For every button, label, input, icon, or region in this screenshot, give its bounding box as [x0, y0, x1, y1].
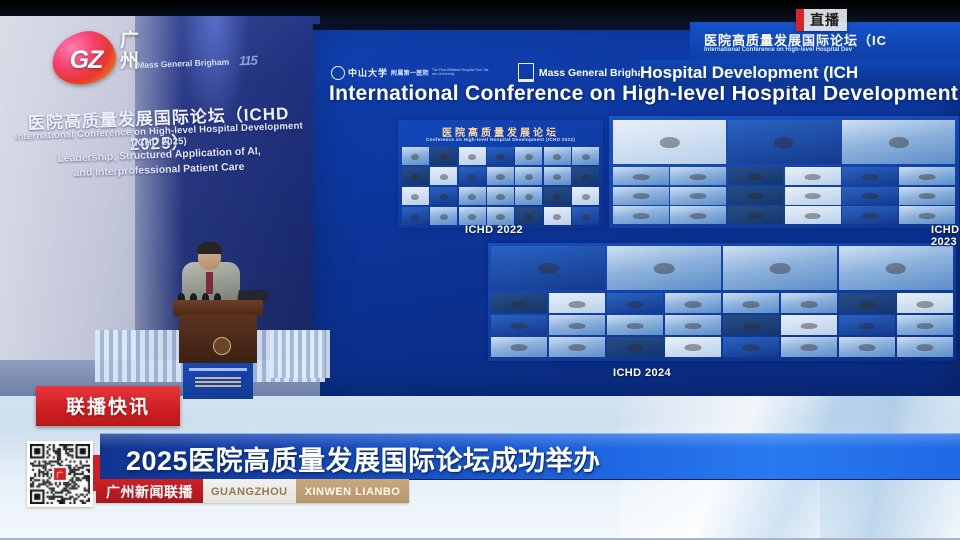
- hospital-name-cn: 附属第一医院: [391, 68, 429, 77]
- participant-tile: [839, 315, 895, 335]
- university-name-cn: 中山大学: [348, 66, 388, 79]
- participant-tile: [402, 147, 429, 165]
- participant-tile: [728, 206, 784, 224]
- participant-tile: [402, 207, 429, 225]
- participant-tile: [785, 187, 841, 205]
- participant-tile: [430, 207, 457, 225]
- participant-tile: [459, 187, 486, 205]
- participant-tile: [781, 293, 837, 313]
- kicker-banner: 联播快讯: [36, 386, 180, 426]
- ichd-2022-label: ICHD 2022: [465, 224, 523, 236]
- participant-tile: [842, 120, 955, 164]
- participant-tile: [544, 187, 571, 205]
- participant-tile: [613, 206, 669, 224]
- ichd-2022-title-en: Conference on High-level Hospital Develo…: [398, 137, 603, 142]
- participant-tile: [402, 167, 429, 185]
- ichd-2024-label: ICHD 2024: [613, 367, 671, 379]
- participant-tile: [549, 337, 605, 357]
- participant-tile: [607, 246, 721, 290]
- participant-tile: [897, 337, 953, 357]
- mass-general-brigham-logo-led: Mass General Brigham: [518, 63, 653, 82]
- participant-tile: [899, 187, 955, 205]
- participant-tile: [781, 315, 837, 335]
- live-badge-accent: [796, 9, 804, 31]
- participant-tile: [899, 167, 955, 185]
- ichd-2023-label: ICHD 2023: [931, 224, 960, 248]
- participant-tile: [785, 206, 841, 224]
- gz-logo-mark: GZ: [61, 46, 111, 75]
- participant-tile: [728, 120, 841, 164]
- participant-tile: [544, 207, 571, 225]
- participant-tile: [515, 167, 542, 185]
- participant-tile: [544, 147, 571, 165]
- participant-tile: [723, 293, 779, 313]
- participant-tile: [430, 147, 457, 165]
- participant-tile: [402, 187, 429, 205]
- participant-tile: [670, 206, 726, 224]
- ichd-2022-panel: 医院高质量发展论坛 Conference on High-level Hospi…: [398, 120, 603, 228]
- ichd-2023-top-grid: [613, 120, 955, 164]
- stage-light-strip-right: [270, 330, 330, 378]
- participant-tile: [607, 315, 663, 335]
- overhead-banner-secondary: Hospital Development (ICH: [640, 60, 960, 86]
- participant-tile: [897, 293, 953, 313]
- participant-tile: [459, 167, 486, 185]
- participant-tile: [430, 187, 457, 205]
- university-seal-icon: [331, 66, 345, 80]
- participant-tile: [728, 167, 784, 185]
- participant-tile: [839, 246, 953, 290]
- participant-tile: [723, 246, 837, 290]
- participant-tile: [487, 187, 514, 205]
- participant-tile: [670, 167, 726, 185]
- participant-tile: [842, 167, 898, 185]
- sun-yat-sen-university-logo: 中山大学 附属第一医院 The First Affiliated Hospita…: [331, 66, 494, 80]
- participant-tile: [613, 120, 726, 164]
- ichd-2023-panel: [609, 116, 959, 228]
- conference-montage: 医院高质量发展论坛 Conference on High-level Hospi…: [313, 108, 960, 396]
- participant-tile: [781, 337, 837, 357]
- participant-tile: [515, 147, 542, 165]
- podium-screen-panel: [183, 363, 253, 399]
- qr-code[interactable]: [27, 441, 93, 507]
- ichd-2022-participant-grid: [402, 147, 599, 225]
- participant-tile: [665, 293, 721, 313]
- participant-tile: [842, 206, 898, 224]
- podium-top: [173, 300, 263, 316]
- ichd-2024-panel: [488, 243, 956, 361]
- participant-tile: [670, 187, 726, 205]
- headline-container: 2025医院高质量发展国际论坛成功举办: [100, 433, 960, 478]
- program-pinyin-1: GUANGZHOU: [203, 479, 296, 503]
- participant-tile: [572, 207, 599, 225]
- live-badge-label: 直播: [804, 9, 847, 31]
- ichd-2024-top-grid: [491, 246, 953, 290]
- mass-general-brigham-label: Mass General Brigham: [539, 67, 653, 79]
- participant-tile: [491, 293, 547, 313]
- participant-tile: [487, 147, 514, 165]
- university-name-en: The First Affiliated Hospital Sun Yat-se…: [432, 69, 494, 77]
- headline-text: 2025医院高质量发展国际论坛成功举办: [126, 439, 601, 478]
- participant-tile: [487, 167, 514, 185]
- participant-tile: [487, 207, 514, 225]
- participant-tile: [665, 337, 721, 357]
- participant-tile: [459, 207, 486, 225]
- participant-tile: [491, 315, 547, 335]
- participant-tile: [665, 315, 721, 335]
- kicker-label: 联播快讯: [66, 397, 150, 418]
- program-pinyin-2: XINWEN LIANBO: [296, 479, 410, 503]
- participant-tile: [607, 337, 663, 357]
- participant-tile: [549, 315, 605, 335]
- participant-tile: [572, 187, 599, 205]
- channel-logo: GZ 广州: [52, 28, 172, 90]
- participant-tile: [459, 147, 486, 165]
- participant-tile: [728, 187, 784, 205]
- speaker-podium: [173, 300, 263, 398]
- participant-tile: [515, 187, 542, 205]
- participant-tile: [549, 293, 605, 313]
- program-name-cn: 广州新闻联播: [96, 479, 203, 503]
- speaker-hair: [197, 242, 222, 254]
- participant-tile: [723, 337, 779, 357]
- participant-tile: [544, 167, 571, 185]
- participant-tile: [491, 337, 547, 357]
- live-badge: 直播: [796, 9, 847, 31]
- ichd-2023-bottom-grid: [613, 167, 955, 224]
- participant-tile: [839, 337, 895, 357]
- participant-tile: [785, 167, 841, 185]
- participant-tile: [607, 293, 663, 313]
- podium-body: [179, 315, 257, 363]
- participant-tile: [897, 315, 953, 335]
- participant-tile: [491, 246, 605, 290]
- participant-tile: [839, 293, 895, 313]
- participant-tile: [899, 206, 955, 224]
- participant-tile: [430, 167, 457, 185]
- ichd-2024-bottom-grid: [491, 293, 953, 357]
- participant-tile: [515, 207, 542, 225]
- participant-tile: [613, 167, 669, 185]
- participant-tile: [723, 315, 779, 335]
- mass-general-brigham-icon: [518, 63, 534, 82]
- participant-tile: [613, 187, 669, 205]
- participant-tile: [572, 167, 599, 185]
- program-brand-bar: 广州新闻联播 GUANGZHOU XINWEN LIANBO: [96, 479, 409, 503]
- participant-tile: [842, 187, 898, 205]
- channel-name-cn: 广州: [120, 30, 150, 72]
- podium-emblem-icon: [213, 337, 231, 355]
- broadcast-screen: Mass General Brigham 115 医院高质量发展国际论坛（ICH…: [0, 0, 960, 540]
- overhead-banner-title-en: International Conference on High-level H…: [704, 47, 852, 53]
- qr-code-image: [30, 444, 90, 504]
- overhead-banner-headline-en: Hospital Development (ICH: [640, 63, 858, 83]
- participant-tile: [572, 147, 599, 165]
- anniversary-115-logo: 115: [239, 53, 257, 69]
